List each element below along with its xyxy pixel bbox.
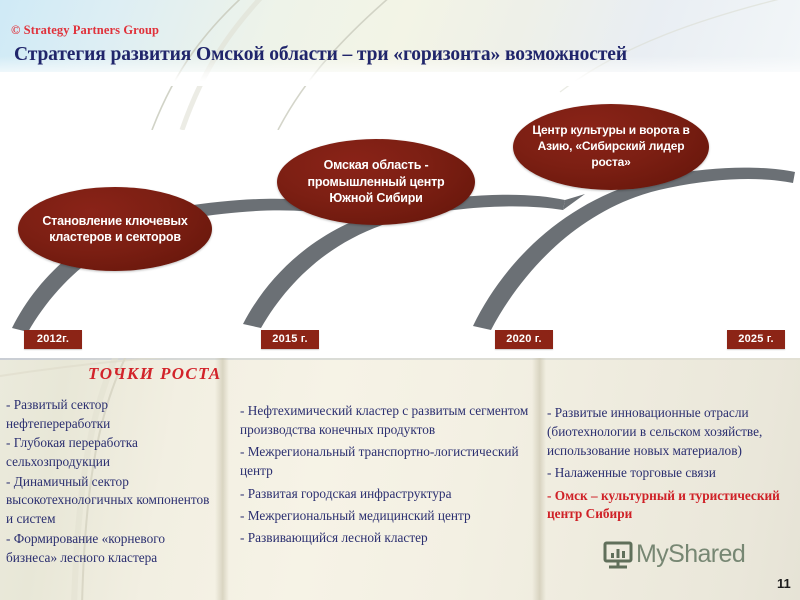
horizon-bubble-1: Становление ключевых кластеров и секторо…: [18, 187, 212, 271]
growth-arrow-3: [473, 168, 795, 330]
horizon-bubble-2: Омская область - промышленный центр Южно…: [277, 139, 475, 225]
horizon-bubble-3: Центр культуры и ворота в Азию, «Сибирск…: [513, 104, 709, 190]
growth-points-title: ТОЧКИ РОСТА: [88, 364, 222, 384]
growth-column-2: - Нефтехимический кластер с развитым сег…: [240, 402, 530, 552]
list-item: - Развивающийся лесной кластер: [240, 529, 530, 548]
list-item-highlight: - Омск – культурный и туристический цент…: [547, 487, 795, 525]
list-item: - Развитая городская инфраструктура: [240, 485, 530, 504]
myshared-watermark-label: MyShared: [636, 540, 745, 569]
list-item: - Нефтехимический кластер с развитым сег…: [240, 402, 530, 440]
horizons-diagram: Становление ключевых кластеров и секторо…: [0, 72, 800, 360]
column-divider-1: [215, 358, 229, 600]
list-item: - Развитые инновационные отрасли (биотех…: [547, 404, 795, 461]
horizon-bubble-3-label: Центр культуры и ворота в Азию, «Сибирск…: [513, 123, 709, 170]
presentation-chart-icon: [603, 541, 633, 569]
horizon-bubble-2-label: Омская область - промышленный центр Южно…: [277, 157, 475, 207]
year-label-2012: 2012г.: [24, 330, 82, 349]
list-item: - Налаженные торговые связи: [547, 464, 795, 483]
year-label-2020: 2020 г.: [495, 330, 553, 349]
growth-column-3: - Развитые инновационные отрасли (биотех…: [547, 404, 795, 528]
list-item: - Развитый сектор нефтепереработки: [6, 396, 211, 434]
slide-canvas: © Strategy Partners Group Стратегия разв…: [0, 0, 800, 600]
list-item: - Межрегиональный медицинский центр: [240, 507, 530, 526]
list-item: - Формирование «корневого бизнеса» лесно…: [6, 530, 211, 568]
horizon-bubble-1-label: Становление ключевых кластеров и секторо…: [18, 213, 212, 246]
copyright-notice: © Strategy Partners Group: [11, 23, 159, 38]
year-label-2015: 2015 г.: [261, 330, 319, 349]
year-label-2025: 2025 г.: [727, 330, 785, 349]
growth-column-1: - Развитый сектор нефтепереработки - Глу…: [6, 396, 211, 568]
page-title: Стратегия развития Омской области – три …: [14, 44, 794, 66]
list-item: - Межрегиональный транспортно-логистичес…: [240, 443, 530, 481]
list-item: - Глубокая переработка сельхозпродукции: [6, 434, 211, 472]
column-divider-2: [532, 358, 546, 600]
list-item: - Динамичный сектор высокотехнологичных …: [6, 473, 211, 530]
myshared-watermark: MyShared: [603, 540, 745, 569]
page-number: 11: [777, 576, 791, 591]
panel-top-divider: [0, 358, 800, 360]
